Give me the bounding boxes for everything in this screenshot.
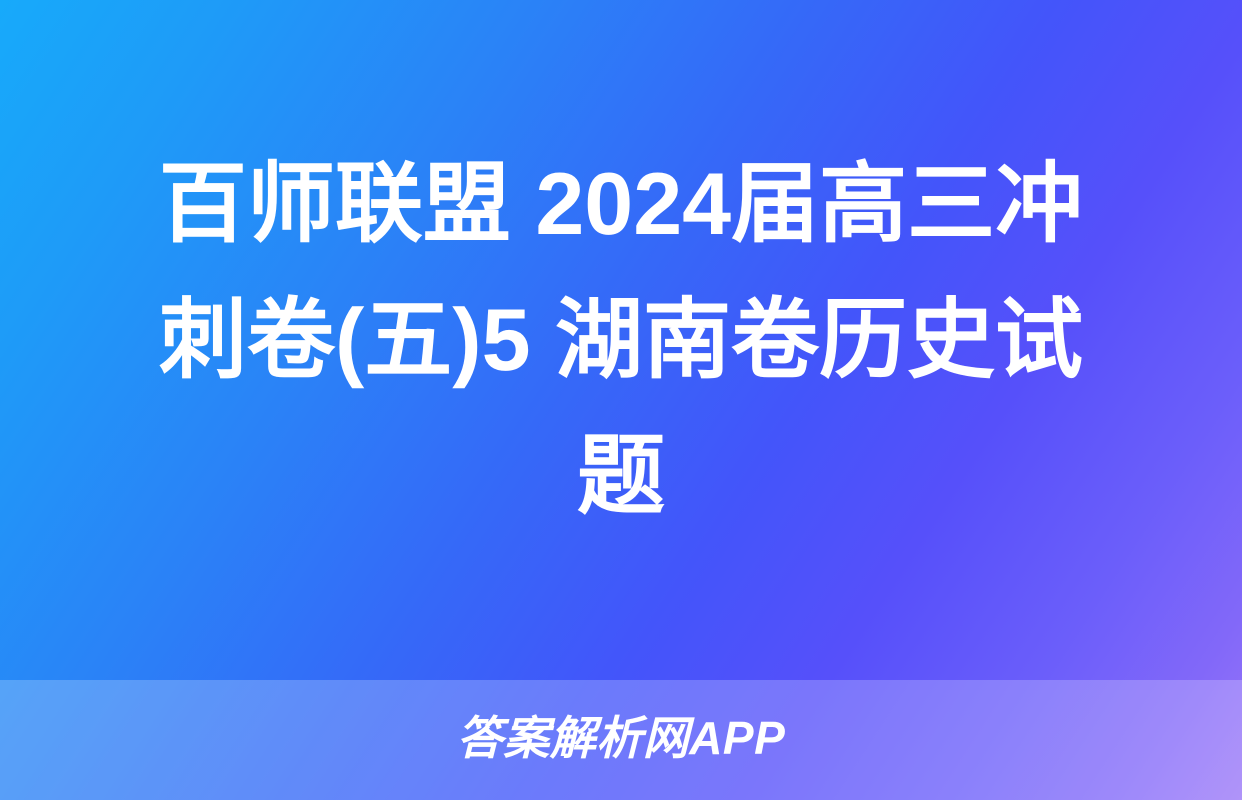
footer-band: 答案解析网APP (0, 680, 1242, 800)
page-title: 百师联盟 2024届高三冲 刺卷(五)5 湖南卷历史试 题 (78, 136, 1164, 544)
title-line-2: 刺卷(五)5 湖南卷历史试 (78, 272, 1164, 408)
title-line-1: 百师联盟 2024届高三冲 (78, 136, 1164, 272)
app-watermark: 答案解析网APP (457, 715, 786, 761)
title-line-3: 题 (78, 408, 1164, 544)
title-hero-section: 百师联盟 2024届高三冲 刺卷(五)5 湖南卷历史试 题 (0, 0, 1242, 680)
cover-screen: 百师联盟 2024届高三冲 刺卷(五)5 湖南卷历史试 题 答案解析网APP (0, 0, 1242, 800)
